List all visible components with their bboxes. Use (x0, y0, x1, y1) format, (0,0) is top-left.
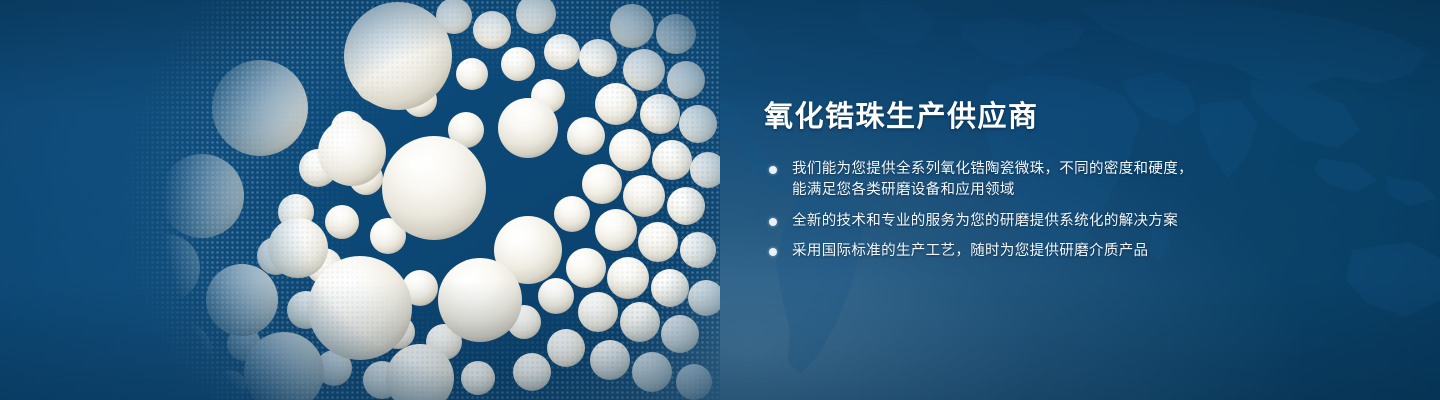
bullet-line-1: 采用国际标准的生产工艺，随时为您提供研磨介质产品 (792, 241, 1234, 263)
feature-bullet-list: 我们能为您提供全系列氧化锆陶瓷微珠，不同的密度和硬度， 能满足您各类研磨设备和应… (764, 159, 1234, 263)
hero-banner: 氧化锆珠生产供应商 我们能为您提供全系列氧化锆陶瓷微珠，不同的密度和硬度， 能满… (0, 0, 1440, 400)
dot-bullet-icon (769, 166, 777, 174)
bottom-shade-overlay (0, 280, 1440, 400)
list-item: 采用国际标准的生产工艺，随时为您提供研磨介质产品 (764, 241, 1234, 263)
dot-bullet-icon (769, 248, 777, 256)
dot-bullet-icon (769, 218, 777, 226)
bullet-line-2: 能满足您各类研磨设备和应用领域 (792, 180, 1234, 202)
list-item: 全新的技术和专业的服务为您的研磨提供系统化的解决方案 (764, 211, 1234, 233)
bullet-line-1: 我们能为您提供全系列氧化锆陶瓷微珠，不同的密度和硬度， (792, 159, 1234, 181)
list-item: 我们能为您提供全系列氧化锆陶瓷微珠，不同的密度和硬度， 能满足您各类研磨设备和应… (764, 159, 1234, 202)
page-title: 氧化锆珠生产供应商 (764, 100, 1234, 135)
banner-copy-block: 氧化锆珠生产供应商 我们能为您提供全系列氧化锆陶瓷微珠，不同的密度和硬度， 能满… (764, 100, 1234, 263)
bullet-line-1: 全新的技术和专业的服务为您的研磨提供系统化的解决方案 (792, 211, 1234, 233)
